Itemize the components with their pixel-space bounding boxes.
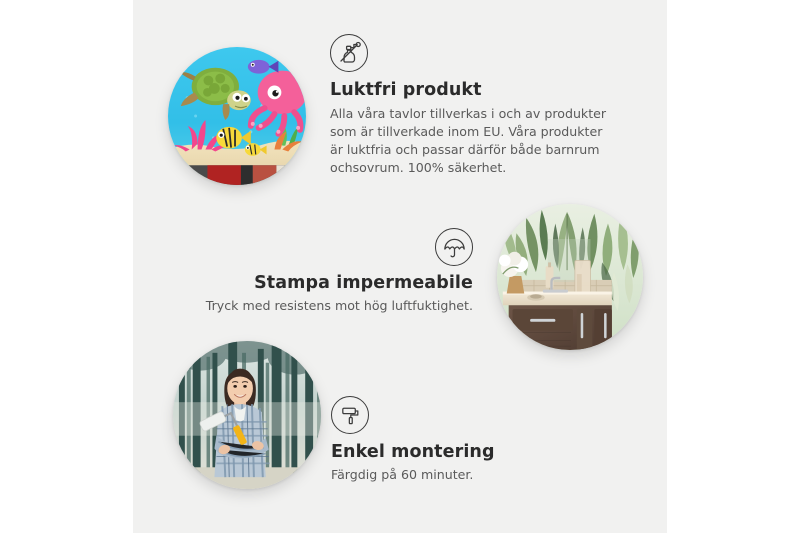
feature-image-bathroom-vanity [497,204,643,350]
feature-description: Tryck med resistens mot hög luftfuktighe… [188,297,473,315]
paint-roller-icon [331,396,369,434]
feature-title: Enkel montering [331,442,591,462]
feature-text-odourless: Luktfri produkt Alla våra tavlor tillver… [330,34,616,177]
feature-image-underwater-scene [168,47,306,185]
feature-description: Alla våra tavlor tillverkas i och av pro… [330,105,616,177]
feature-text-waterproof: Stampa impermeabile Tryck med resistens … [188,228,473,315]
no-odour-spray-bottle-icon [330,34,368,72]
umbrella-icon [435,228,473,266]
feature-text-easy-assembly: Enkel montering Färgdig på 60 minuter. [331,396,591,484]
promo-banner: Luktfri produkt Alla våra tavlor tillver… [0,0,800,533]
feature-title: Stampa impermeabile [188,273,473,293]
feature-description: Färgdig på 60 minuter. [331,466,591,484]
feature-title: Luktfri produkt [330,80,616,100]
feature-image-woman-paint-roller [173,341,321,489]
